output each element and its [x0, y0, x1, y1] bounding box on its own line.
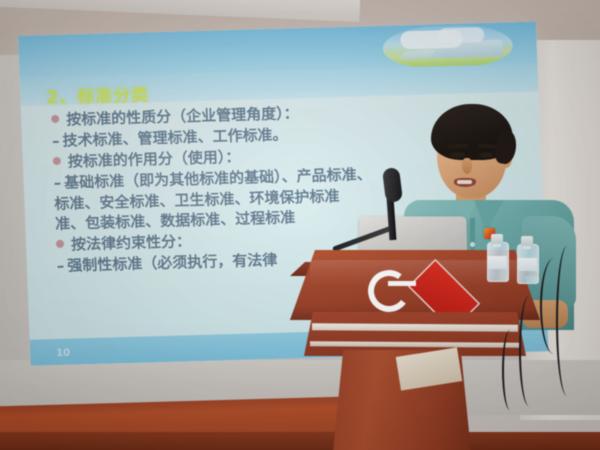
water-bottle	[517, 234, 537, 282]
slide-page-number: 10	[56, 348, 70, 359]
slide-line-text: 技术标准、管理标准、工作标准。	[62, 127, 288, 149]
cable	[556, 246, 578, 396]
slide-line-text: 强制性标准（必须执行，有法律	[67, 253, 278, 275]
letter-c-icon	[365, 267, 412, 314]
slide-line-text: 准、包装标准、数据标准、过程标准	[55, 211, 296, 234]
bullet-icon	[51, 115, 59, 123]
campus-building-banner-icon	[382, 24, 514, 70]
slide-line-text: 按法律约束性分：	[71, 235, 192, 254]
dash-icon: –	[53, 176, 61, 192]
slide-line-text: 标准、安全标准、卫生标准、环境保护标准	[54, 189, 340, 213]
water-bottle	[487, 232, 507, 280]
bullet-icon	[53, 157, 61, 165]
bullet-icon	[56, 240, 64, 248]
eye	[450, 152, 465, 158]
podium-emblem	[338, 254, 434, 310]
eye	[479, 152, 493, 158]
emblem-bar-icon	[388, 281, 416, 286]
podium-stripe	[312, 323, 518, 331]
cable	[519, 296, 539, 406]
nose	[462, 158, 472, 174]
slide-line-text: 按标准的作用分（使用）：	[68, 150, 241, 171]
cable	[502, 330, 518, 410]
dash-icon: –	[52, 134, 60, 150]
dash-icon: –	[57, 259, 65, 275]
slide-title: 2、标准分类	[46, 80, 150, 108]
teeth	[457, 180, 472, 184]
presentation-photo: 2、标准分类 按标准的性质分（企业管理角度）： –技术标准、管理标准、工作标准。…	[0, 0, 600, 450]
podium-band	[304, 312, 526, 356]
